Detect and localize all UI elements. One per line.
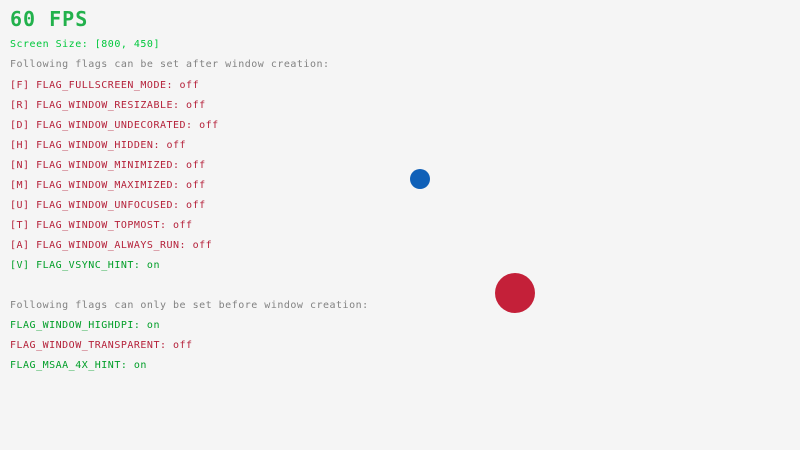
flag-row-window-maximized[interactable]: [M] FLAG_WINDOW_MAXIMIZED: off <box>10 180 206 192</box>
raylib-window-canvas: 60 FPS Screen Size: [800, 450] Following… <box>0 0 800 450</box>
flag-row-window-unfocused[interactable]: [U] FLAG_WINDOW_UNFOCUSED: off <box>10 200 206 212</box>
flag-row-window-hidden[interactable]: [H] FLAG_WINDOW_HIDDEN: off <box>10 140 186 152</box>
flag-row-window-minimized[interactable]: [N] FLAG_WINDOW_MINIMIZED: off <box>10 160 206 172</box>
flag-row-fullscreen-mode[interactable]: [F] FLAG_FULLSCREEN_MODE: off <box>10 80 199 92</box>
flag-row-window-undecorated[interactable]: [D] FLAG_WINDOW_UNDECORATED: off <box>10 120 219 132</box>
flag-row-msaa-4x-hint: FLAG_MSAA_4X_HINT: on <box>10 360 147 372</box>
screen-size-label: Screen Size: [800, 450] <box>10 39 160 51</box>
flag-row-window-topmost[interactable]: [T] FLAG_WINDOW_TOPMOST: off <box>10 220 193 232</box>
flag-row-window-transparent: FLAG_WINDOW_TRANSPARENT: off <box>10 340 193 352</box>
flag-row-window-highdpi: FLAG_WINDOW_HIGHDPI: on <box>10 320 160 332</box>
creation-flags-note: Following flags can only be set before w… <box>10 300 369 312</box>
flag-row-window-always-run[interactable]: [A] FLAG_WINDOW_ALWAYS_RUN: off <box>10 240 212 252</box>
flag-row-window-resizable[interactable]: [R] FLAG_WINDOW_RESIZABLE: off <box>10 100 206 112</box>
fps-counter: 60 FPS <box>10 8 88 30</box>
blue-ball <box>410 169 430 189</box>
flag-row-vsync-hint[interactable]: [V] FLAG_VSYNC_HINT: on <box>10 260 160 272</box>
red-ball <box>495 273 535 313</box>
runtime-flags-note: Following flags can be set after window … <box>10 59 330 71</box>
